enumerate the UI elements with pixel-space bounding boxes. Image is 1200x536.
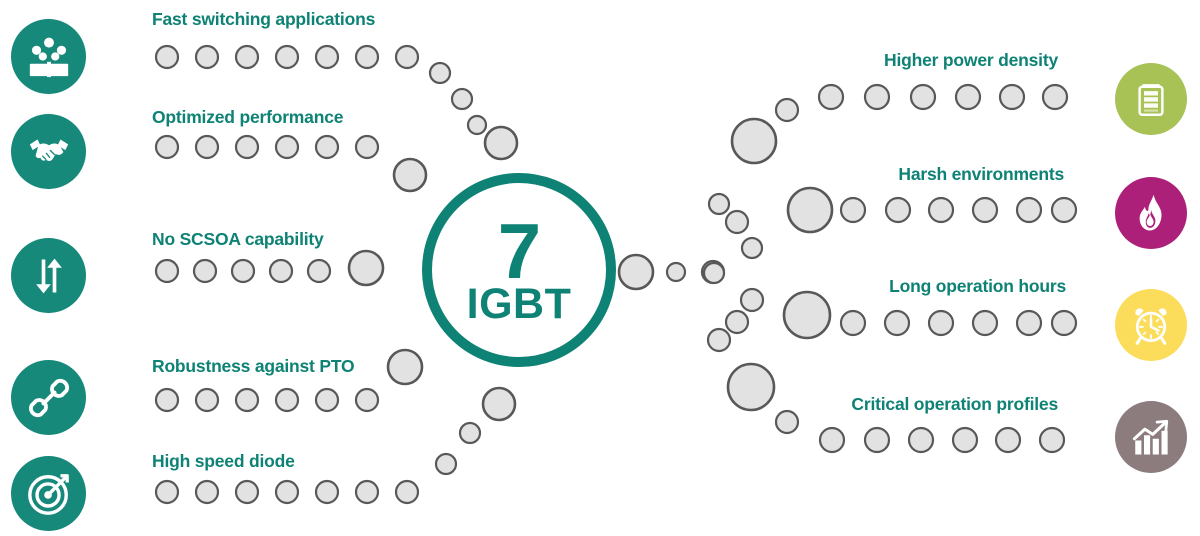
dot (236, 136, 258, 158)
dot (909, 428, 933, 452)
dot-trail-right-0 (732, 85, 1067, 163)
left-label-no-scsoa-capability: No SCSOA capability (152, 229, 324, 250)
right-label-critical-operation-profiles: Critical operation profiles (851, 394, 1058, 415)
dot (820, 428, 844, 452)
dot (865, 428, 889, 452)
dot (742, 238, 762, 258)
icon-badge-alarm-clock[interactable] (1115, 289, 1187, 361)
dot (196, 136, 218, 158)
icon-badge-flame[interactable] (1115, 177, 1187, 249)
dot (308, 260, 330, 282)
dot (356, 481, 378, 503)
dot (388, 350, 422, 384)
dot (468, 116, 486, 134)
dot (819, 85, 843, 109)
dot (396, 46, 418, 68)
dot (316, 389, 338, 411)
dot (953, 428, 977, 452)
dot (436, 454, 456, 474)
dot (396, 481, 418, 503)
dot (911, 85, 935, 109)
dot (841, 198, 865, 222)
dot (156, 481, 178, 503)
dot-trail-left-1 (156, 136, 426, 191)
dot (973, 311, 997, 335)
dot (667, 263, 685, 281)
dot (316, 136, 338, 158)
center-number: 7 (469, 212, 569, 290)
dot (784, 292, 830, 338)
dot (156, 389, 178, 411)
dot (276, 46, 298, 68)
dot-trail-left-0 (156, 46, 517, 159)
growth-chart-icon (1130, 416, 1172, 458)
dot (270, 260, 292, 282)
dot (483, 388, 515, 420)
dot (196, 481, 218, 503)
dot (1052, 311, 1076, 335)
dot (956, 85, 980, 109)
dot (776, 411, 798, 433)
dot (704, 263, 724, 283)
right-label-harsh-environments: Harsh environments (898, 164, 1064, 185)
dot (1000, 85, 1024, 109)
dot (194, 260, 216, 282)
dot (841, 311, 865, 335)
dot (276, 136, 298, 158)
dot (460, 423, 480, 443)
dot-trail-left-4 (156, 388, 515, 503)
left-label-optimized-performance: Optimized performance (152, 107, 343, 128)
dot (276, 481, 298, 503)
dot-trail-center (619, 255, 724, 289)
dot (356, 389, 378, 411)
dot (236, 46, 258, 68)
dot (232, 260, 254, 282)
dot (886, 198, 910, 222)
dot (236, 481, 258, 503)
dot (156, 136, 178, 158)
dot (996, 428, 1020, 452)
dot (196, 46, 218, 68)
left-label-robustness-against-pto: Robustness against PTO (152, 356, 354, 377)
flame-icon (1130, 192, 1172, 234)
dot (726, 211, 748, 233)
right-label-higher-power-density: Higher power density (884, 50, 1058, 71)
up-down-arrows-icon (27, 254, 71, 298)
dot (1017, 311, 1041, 335)
alarm-clock-icon (1129, 303, 1173, 347)
dot (619, 255, 653, 289)
dot (452, 89, 472, 109)
dot (702, 261, 724, 283)
dot (776, 99, 798, 121)
dot (156, 46, 178, 68)
battery-icon (1130, 78, 1172, 120)
icon-badge-link-chain[interactable] (11, 360, 86, 435)
dot (349, 251, 383, 285)
dot (1052, 198, 1076, 222)
handshake-icon (26, 129, 72, 175)
dot (732, 119, 776, 163)
dot (1017, 198, 1041, 222)
center-subtitle: IGBT (444, 283, 594, 326)
icon-badge-battery[interactable] (1115, 63, 1187, 135)
dot (788, 188, 832, 232)
dot (316, 46, 338, 68)
dot (709, 194, 729, 214)
dot (973, 198, 997, 222)
dot (741, 289, 763, 311)
dot (356, 46, 378, 68)
dot (236, 389, 258, 411)
dot (885, 311, 909, 335)
dot (929, 311, 953, 335)
dot (726, 311, 748, 333)
dot (196, 389, 218, 411)
icon-badge-up-down-arrows[interactable] (11, 238, 86, 313)
dot (276, 389, 298, 411)
dot (1043, 85, 1067, 109)
left-label-high-speed-diode: High speed diode (152, 451, 295, 472)
right-label-long-operation-hours: Long operation hours (889, 276, 1066, 297)
dot (394, 159, 426, 191)
dot-trail-left-2 (156, 251, 383, 285)
icon-badge-handshake[interactable] (11, 114, 86, 189)
dot (485, 127, 517, 159)
dot (1040, 428, 1064, 452)
dot (356, 136, 378, 158)
icon-badge-team[interactable] (11, 19, 86, 94)
infographic-canvas: 7 IGBT (0, 0, 1200, 536)
icon-badge-target[interactable] (11, 456, 86, 531)
dot (728, 364, 774, 410)
link-chain-icon (27, 376, 71, 420)
team-icon (26, 34, 72, 80)
dot (156, 260, 178, 282)
icon-badge-growth-chart[interactable] (1115, 401, 1187, 473)
dot (708, 329, 730, 351)
dot (316, 481, 338, 503)
left-label-fast-switching-applications: Fast switching applications (152, 9, 375, 30)
dot (929, 198, 953, 222)
dot (430, 63, 450, 83)
dot-trail-right-1 (709, 188, 1076, 258)
target-icon (26, 471, 72, 517)
dot (865, 85, 889, 109)
